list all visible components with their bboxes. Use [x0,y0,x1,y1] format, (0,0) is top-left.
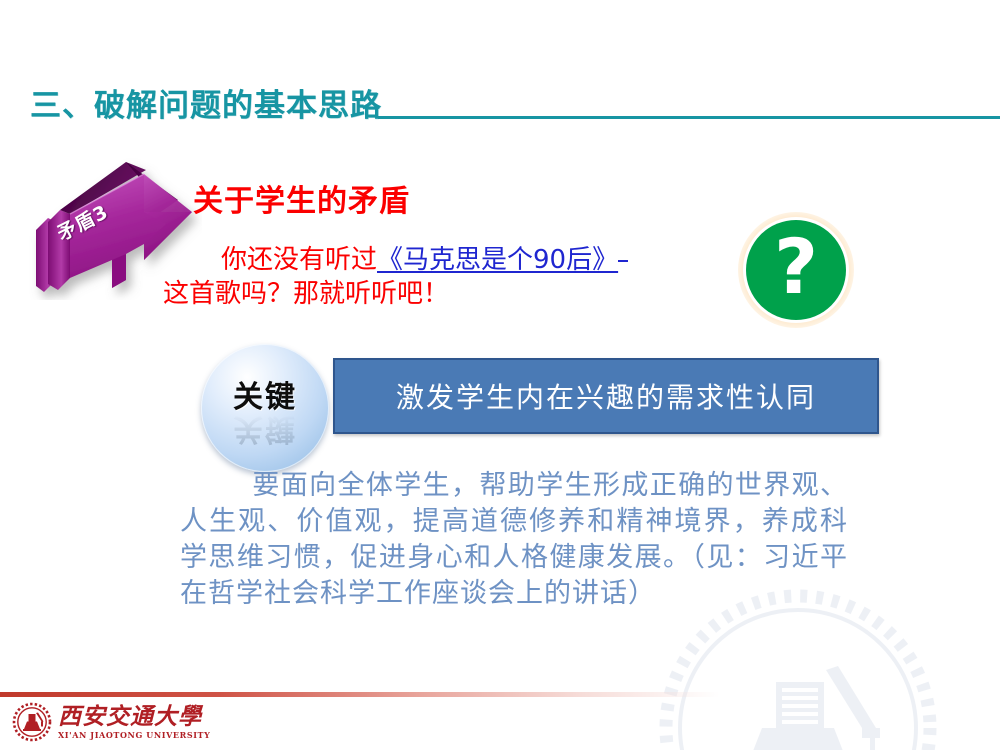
key-point-label-reflection: 关键 [201,410,329,454]
university-logo: 西安交通大學 XI'AN JIAOTONG UNIVERSITY [12,700,210,744]
quote-paragraph: 要面向全体学生，帮助学生形成正确的世界观、人生观、价值观，提高道德修养和精神境界… [180,468,848,612]
university-name-en: XI'AN JIAOTONG UNIVERSITY [58,731,210,739]
key-point-circle: 关键 关键 [201,344,329,472]
question-mark-icon: ? [746,220,846,320]
question-badge: ? [738,212,854,328]
contradiction-text-before: 你还没有听过 [221,245,377,275]
university-name-cn: 西安交通大學 [58,705,210,728]
slide-title-block: 三、破解问题的基本思路 [30,78,1000,122]
quote-text: 要面向全体学生，帮助学生形成正确的世界观、人生观、价值观，提高道德修养和精神境界… [180,470,848,609]
page-title: 三、破解问题的基本思路 [30,91,382,122]
university-logo-text: 西安交通大學 XI'AN JIAOTONG UNIVERSITY [58,705,210,739]
link-underline-tail [618,260,628,262]
song-link[interactable]: 《马克思是个90后》 [377,245,618,275]
key-point-banner-text: 激发学生内在兴趣的需求性认同 [396,376,816,416]
key-point-banner: 激发学生内在兴趣的需求性认同 [333,358,879,434]
university-emblem-icon [12,702,52,742]
footer-divider [0,692,1000,697]
contradiction-text-after: 这首歌吗？那就听听吧！ [163,279,449,309]
presentation-slide: 三、破解问题的基本思路 [0,0,1000,750]
contradiction-paragraph: 你还没有听过《马克思是个90后》这首歌吗？那就听听吧！ [163,243,743,312]
title-underline-rule [378,116,1000,119]
contradiction-heading: 关于学生的矛盾 [193,176,410,220]
